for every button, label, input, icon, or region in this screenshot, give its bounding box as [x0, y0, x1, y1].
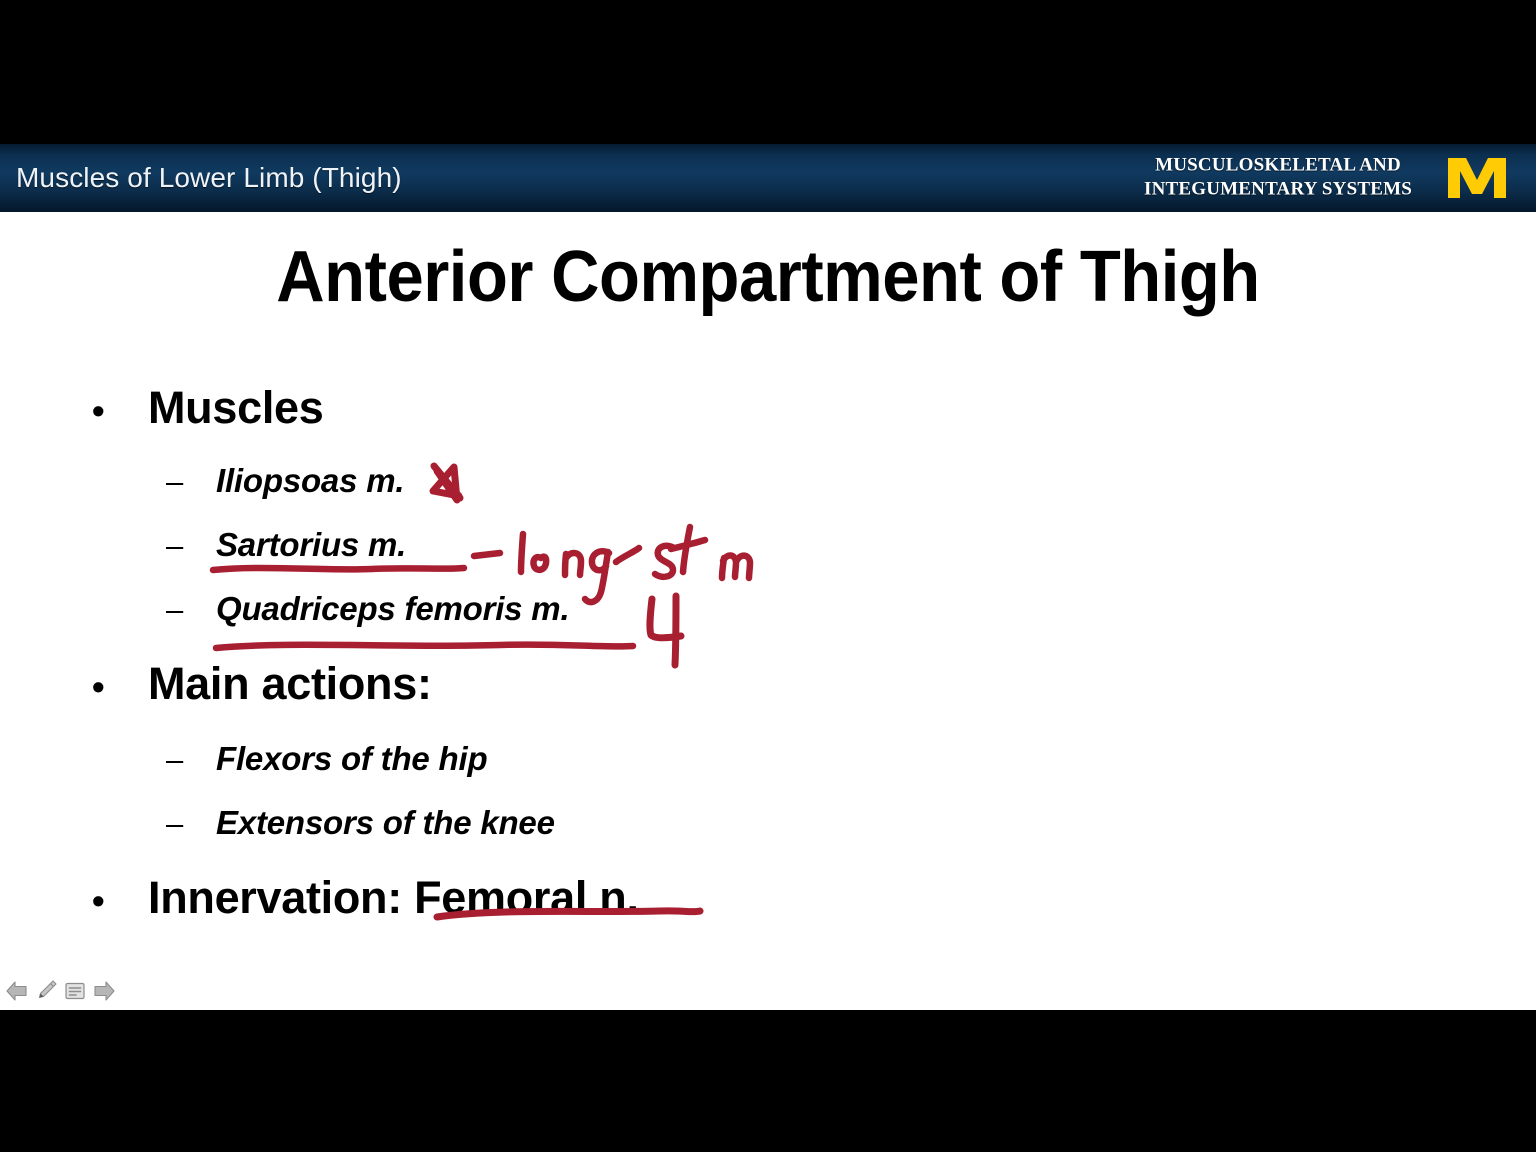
- bullet-muscles: • Muscles: [0, 382, 1536, 434]
- brand-line-2: INTEGUMENTARY SYSTEMS: [1144, 178, 1412, 202]
- bullet-marker-dash: –: [166, 806, 216, 842]
- left-arrow-icon[interactable]: [4, 978, 30, 1004]
- bullet-marker-dash: –: [166, 528, 216, 564]
- letterbox-top: [0, 0, 1536, 144]
- bullet-text: Quadriceps femoris m.: [216, 590, 569, 628]
- bullet-innervation: • Innervation: Femoral n.: [0, 872, 1536, 924]
- notes-icon[interactable]: [62, 978, 88, 1004]
- bullet-text: Innervation: Femoral n.: [148, 872, 639, 924]
- bullet-iliopsoas: – Iliopsoas m.: [0, 462, 1536, 500]
- right-arrow-icon[interactable]: [91, 978, 117, 1004]
- bullet-text: Iliopsoas m.: [216, 462, 404, 500]
- michigan-m-logo: [1446, 154, 1508, 202]
- bullet-text: Flexors of the hip: [216, 740, 487, 778]
- brand-line-1: MUSCULOSKELETAL AND: [1144, 154, 1412, 178]
- pen-icon[interactable]: [33, 978, 59, 1004]
- bullet-text: Main actions:: [148, 658, 432, 710]
- bullet-marker-dash: –: [166, 464, 216, 500]
- letterbox-bottom: [0, 1010, 1536, 1152]
- bullet-text: Sartorius m.: [216, 526, 406, 564]
- bullet-marker-dot: •: [92, 393, 148, 429]
- bullet-marker-dot: •: [92, 883, 148, 919]
- bullet-marker-dot: •: [92, 669, 148, 705]
- header-title: Muscles of Lower Limb (Thigh): [16, 162, 402, 194]
- slide-header-bar: Muscles of Lower Limb (Thigh) MUSCULOSKE…: [0, 144, 1536, 212]
- bullet-extensors: – Extensors of the knee: [0, 804, 1536, 842]
- bullet-text: Muscles: [148, 382, 323, 434]
- bullet-sartorius: – Sartorius m.: [0, 526, 1536, 564]
- bullet-text: Extensors of the knee: [216, 804, 555, 842]
- bullet-quadriceps: – Quadriceps femoris m.: [0, 590, 1536, 628]
- course-brand: MUSCULOSKELETAL AND INTEGUMENTARY SYSTEM…: [1144, 154, 1412, 203]
- slide-body: • Muscles – Iliopsoas m. – Sartorius m. …: [0, 382, 1536, 924]
- bullet-main-actions: • Main actions:: [0, 658, 1536, 710]
- page-title: Anterior Compartment of Thigh: [54, 236, 1482, 318]
- slide-canvas[interactable]: Muscles of Lower Limb (Thigh) MUSCULOSKE…: [0, 144, 1536, 1010]
- slide-nav-toolbar[interactable]: [4, 978, 117, 1004]
- bullet-marker-dash: –: [166, 592, 216, 628]
- bullet-flexors: – Flexors of the hip: [0, 740, 1536, 778]
- bullet-marker-dash: –: [166, 742, 216, 778]
- screen: Muscles of Lower Limb (Thigh) MUSCULOSKE…: [0, 0, 1536, 1152]
